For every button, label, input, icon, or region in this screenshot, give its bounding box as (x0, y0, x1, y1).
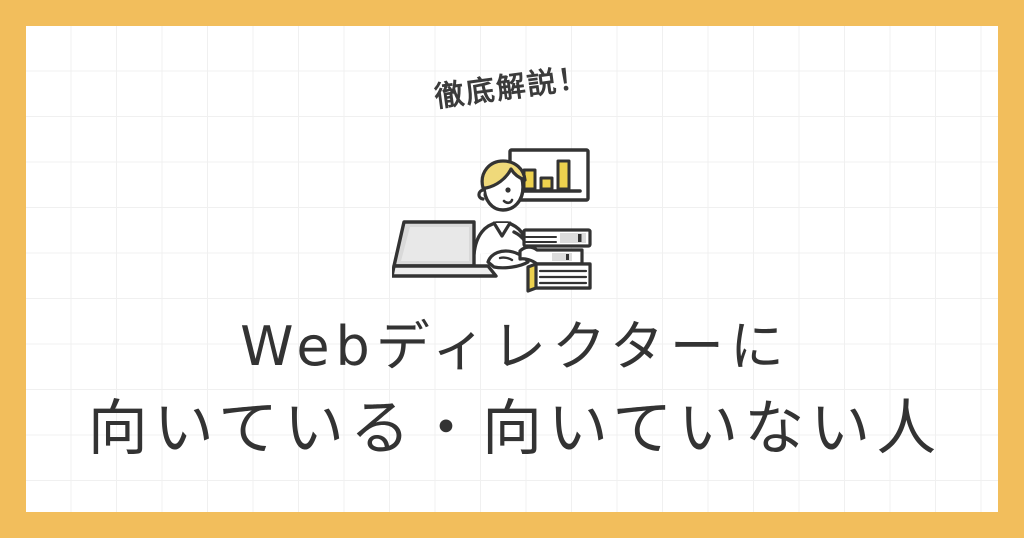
page-title-line-2: 向いている・向いていない人 (26, 386, 998, 472)
page-title: Webディレクターに 向いている・向いていない人 (26, 308, 998, 472)
hero-illustration (392, 138, 632, 298)
illustration-svg (392, 138, 632, 298)
stack-of-books-icon (520, 230, 590, 291)
eyecatch-banner: 徹底解説！ (0, 0, 1024, 538)
grid-paper-canvas: 徹底解説！ (26, 26, 998, 512)
kicker: 徹底解説！ (26, 64, 998, 106)
kicker-text: 徹底解説！ (432, 54, 591, 116)
page-title-line-1: Webディレクターに (26, 308, 998, 386)
